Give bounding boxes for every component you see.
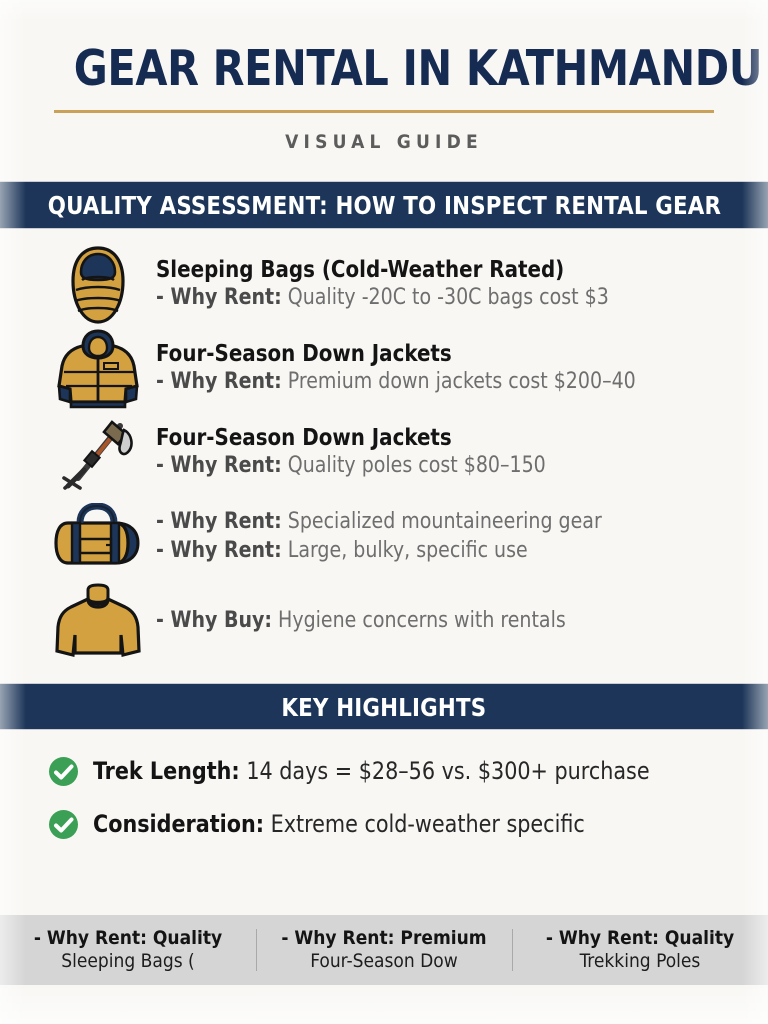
sleeping-bag-icon [46, 243, 150, 327]
highlight-lead: Consideration: [93, 810, 264, 838]
footer-column: - Why Rent: Quality Sleeping Bags ( [0, 927, 256, 974]
gear-list: Sleeping Bags (Cold-Weather Rated) - Why… [0, 229, 768, 663]
gear-detail-body: Premium down jackets cost $200–40 [288, 369, 636, 394]
highlight-body: Extreme cold-weather specific [271, 810, 585, 838]
footer-column-subtitle: Four-Season Dow [262, 950, 506, 974]
highlight-text: Trek Length: 14 days = $28–56 vs. $300+ … [93, 758, 650, 786]
gear-detail-body: Hygiene concerns with rentals [278, 608, 566, 633]
infographic-page: GEAR RENTAL IN KATHMANDU VISUAL GUIDE QU… [0, 0, 768, 1024]
highlight-lead: Trek Length: [93, 757, 240, 785]
gear-detail-body: Specialized mountaineering gear [288, 509, 602, 534]
footer-column-subtitle: Sleeping Bags ( [6, 950, 250, 974]
gear-detail-body: Large, bulky, specific use [288, 538, 528, 563]
gear-detail-lead: - Why Rent: [156, 538, 282, 563]
footer-column: - Why Rent: Premium Four-Season Dow [256, 927, 512, 974]
section-header-quality-assessment: QUALITY ASSESSMENT: HOW TO INSPECT RENTA… [0, 181, 768, 229]
gear-detail-lead: - Why Rent: [156, 285, 282, 310]
gear-detail: - Why Rent: Large, bulky, specific use [156, 537, 715, 566]
section-header-quality-label: QUALITY ASSESSMENT: HOW TO INSPECT RENTA… [47, 182, 720, 230]
duffel-bag-icon [46, 495, 150, 579]
list-item: - Why Rent: Specialized mountaineering g… [0, 495, 768, 579]
base-layer-icon [46, 579, 150, 663]
page-subtitle: VISUAL GUIDE [54, 131, 714, 153]
gear-detail-body: Quality poles cost $80–150 [288, 453, 546, 478]
gear-detail-lead: - Why Buy: [156, 608, 272, 633]
gear-detail: - Why Rent: Premium down jackets cost $2… [156, 368, 715, 397]
gear-detail-body: Quality -20C to -30C bags cost $3 [288, 285, 609, 310]
list-item-text: Sleeping Bags (Cold-Weather Rated) - Why… [150, 257, 738, 313]
footer-column-title: - Why Rent: Quality [6, 927, 250, 950]
highlight-text: Consideration: Extreme cold-weather spec… [93, 811, 585, 839]
footer-column: - Why Rent: Quality Trekking Poles [512, 927, 768, 974]
highlight-body: 14 days = $28–56 vs. $300+ purchase [246, 757, 649, 785]
gear-detail-lead: - Why Rent: [156, 369, 282, 394]
footer-column-title: - Why Rent: Quality [518, 927, 762, 950]
list-item-text: - Why Buy: Hygiene concerns with rentals [150, 607, 738, 636]
highlights-list: Trek Length: 14 days = $28–56 vs. $300+ … [0, 730, 768, 840]
list-item: Sleeping Bags (Cold-Weather Rated) - Why… [0, 243, 768, 327]
list-item-text: Four-Season Down Jackets - Why Rent: Qua… [150, 425, 738, 481]
section-header-key-highlights: KEY HIGHLIGHTS [0, 683, 768, 730]
gear-detail: - Why Rent: Specialized mountaineering g… [156, 508, 715, 537]
section-header-highlights-label: KEY HIGHLIGHTS [282, 684, 487, 731]
list-item: Trek Length: 14 days = $28–56 vs. $300+ … [48, 756, 768, 787]
check-circle-icon [48, 809, 79, 840]
gear-detail-lead: - Why Rent: [156, 509, 282, 534]
page-title: GEAR RENTAL IN KATHMANDU [74, 44, 694, 95]
down-jacket-icon [46, 327, 150, 411]
footer-column-subtitle: Trekking Poles [518, 950, 762, 974]
gear-detail: - Why Buy: Hygiene concerns with rentals [156, 607, 715, 636]
trekking-pole-icon [46, 411, 150, 495]
title-divider [54, 110, 714, 113]
gear-detail: - Why Rent: Quality -20C to -30C bags co… [156, 284, 715, 313]
gear-detail: - Why Rent: Quality poles cost $80–150 [156, 452, 715, 481]
list-item: Four-Season Down Jackets - Why Rent: Qua… [0, 411, 768, 495]
check-circle-icon [48, 756, 79, 787]
gear-title: Four-Season Down Jackets [156, 425, 715, 452]
footer-column-title: - Why Rent: Premium [262, 927, 506, 950]
list-item: Consideration: Extreme cold-weather spec… [48, 809, 768, 840]
title-block: GEAR RENTAL IN KATHMANDU VISUAL GUIDE [0, 0, 768, 153]
gear-title: Sleeping Bags (Cold-Weather Rated) [156, 257, 715, 284]
gear-detail-lead: - Why Rent: [156, 453, 282, 478]
gear-title: Four-Season Down Jackets [156, 341, 715, 368]
list-item-text: Four-Season Down Jackets - Why Rent: Pre… [150, 341, 738, 397]
list-item-text: - Why Rent: Specialized mountaineering g… [150, 508, 738, 565]
list-item: - Why Buy: Hygiene concerns with rentals [0, 579, 768, 663]
footer-strip: - Why Rent: Quality Sleeping Bags ( - Wh… [0, 915, 768, 985]
list-item: Four-Season Down Jackets - Why Rent: Pre… [0, 327, 768, 411]
